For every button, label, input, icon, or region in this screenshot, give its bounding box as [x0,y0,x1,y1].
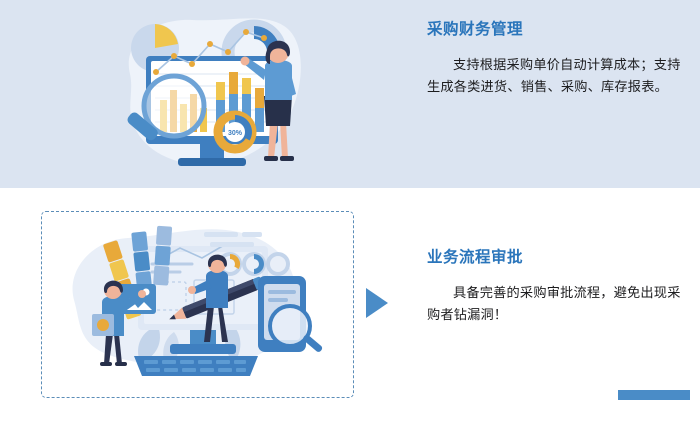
section-title-procurement-finance: 采购财务管理 [427,20,682,40]
section-title-business-process-approval: 业务流程审批 [427,248,682,268]
section-business-process-approval: 业务流程审批 具备完善的采购审批流程，避免出现采购者钻漏洞！ [427,248,682,325]
section-body-business-process-approval: 具备完善的采购审批流程，避免出现采购者钻漏洞！ [427,282,682,325]
data-analytics-illustration: 30% [112,8,312,180]
section-procurement-finance: 采购财务管理 支持根据采购单价自动计算成本；支持生成各类进货、销售、采购、库存报… [427,20,682,97]
right-arrow-icon [366,288,388,318]
blue-accent-bar [618,390,690,400]
page-root: 30% [0,0,700,426]
section-body-procurement-finance: 支持根据采购单价自动计算成本；支持生成各类进货、销售、采购、库存报表。 [427,54,682,97]
donut-percent-label: 30% [228,130,243,137]
design-workflow-illustration [62,222,342,387]
